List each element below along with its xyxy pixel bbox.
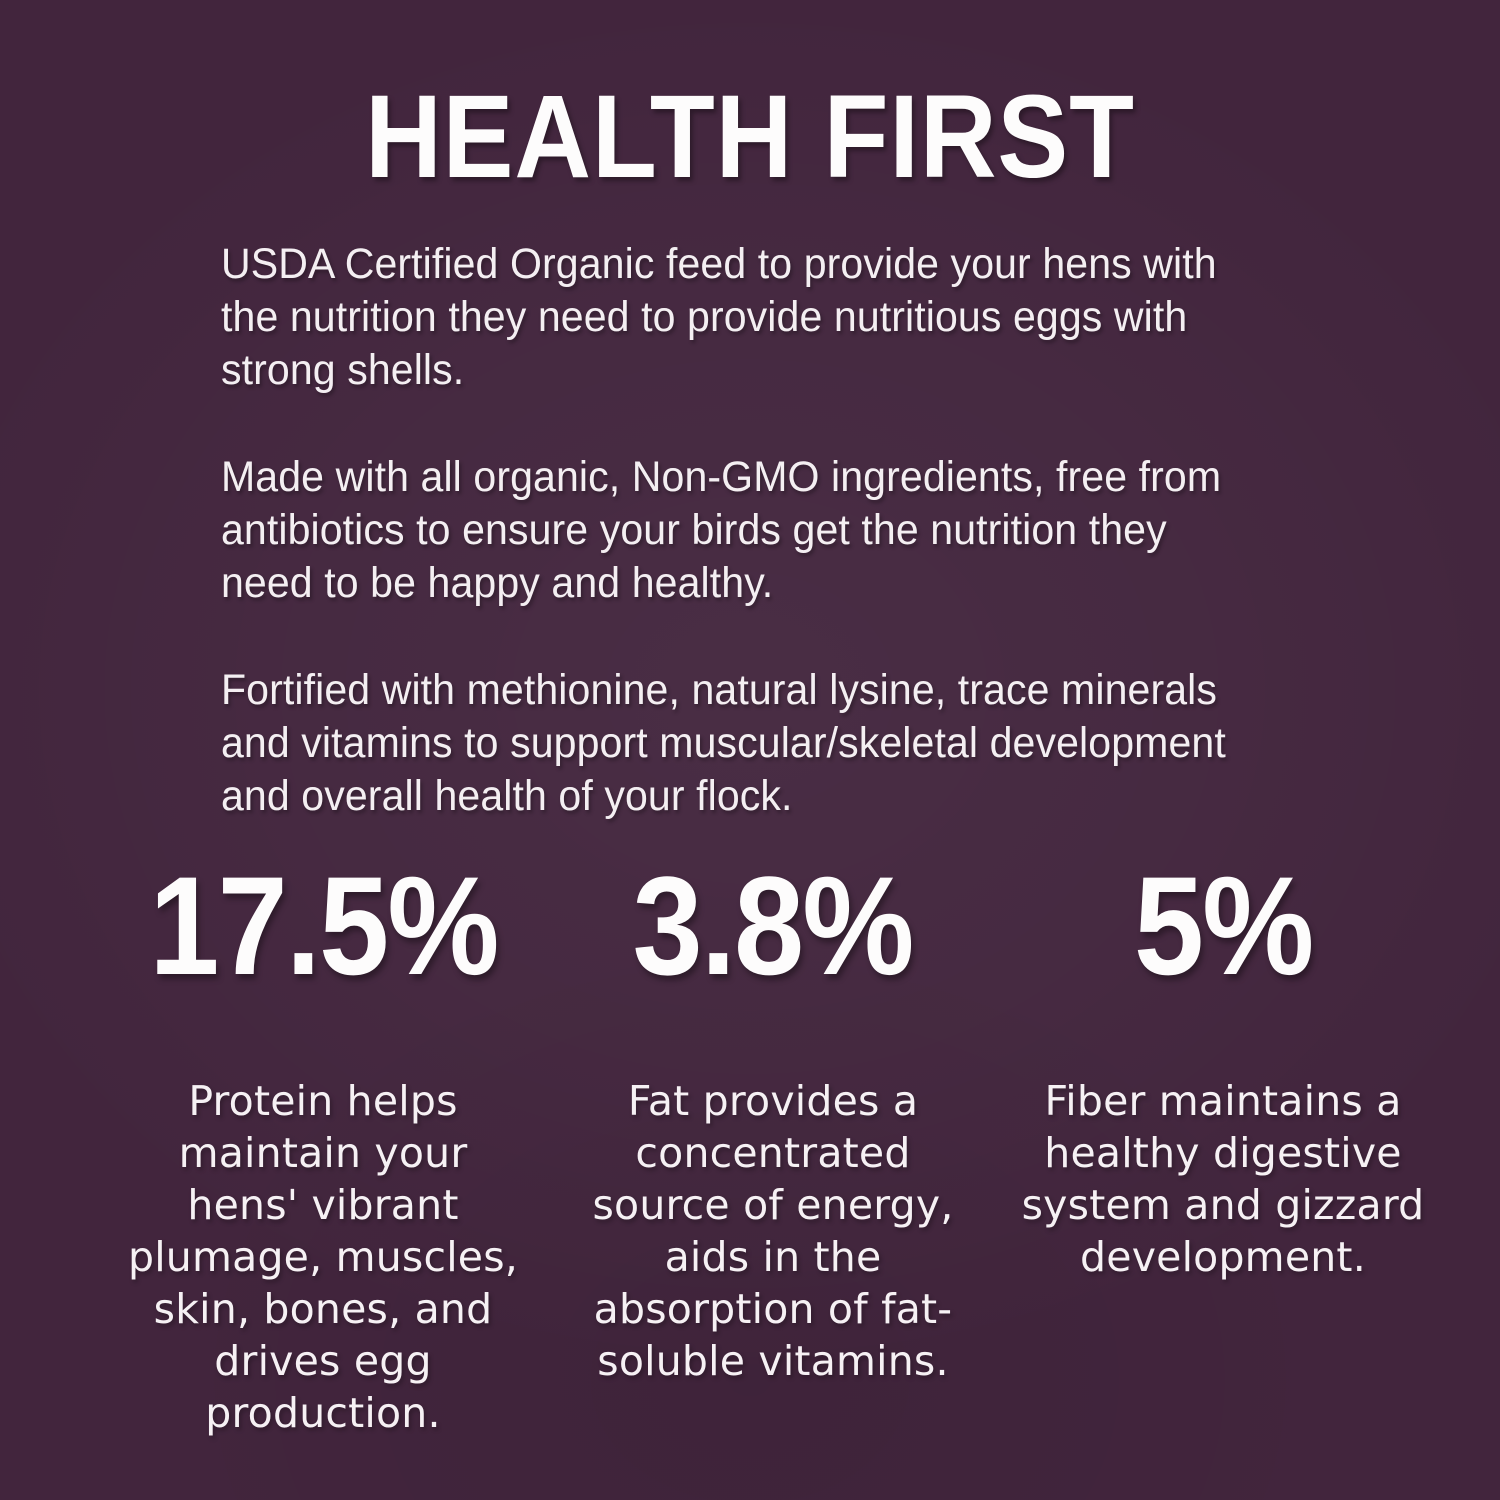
body-paragraph: USDA Certified Organic feed to provide y… [221, 238, 1248, 397]
stat-description-fat: Fat provides a concentrated source of en… [588, 1075, 958, 1387]
nutrition-stats-row: 17.5% Protein helps maintain your hens' … [0, 855, 1500, 1439]
page-title: HEALTH FIRST [75, 78, 1425, 196]
body-paragraph: Fortified with methionine, natural lysin… [221, 664, 1248, 823]
stat-value-fiber: 5% [1134, 855, 1313, 997]
body-paragraph: Made with all organic, Non-GMO ingredien… [221, 451, 1248, 610]
product-info-panel: HEALTH FIRST USDA Certified Organic feed… [0, 0, 1500, 1500]
stat-column-protein: 17.5% Protein helps maintain your hens' … [98, 855, 548, 1439]
body-copy-block: USDA Certified Organic feed to provide y… [221, 238, 1296, 823]
stat-description-fiber: Fiber maintains a healthy digestive syst… [1018, 1075, 1428, 1283]
stat-value-protein: 17.5% [149, 855, 497, 997]
stat-column-fat: 3.8% Fat provides a concentrated source … [548, 855, 998, 1439]
stat-description-protein: Protein helps maintain your hens' vibran… [126, 1075, 521, 1439]
stat-column-fiber: 5% Fiber maintains a healthy digestive s… [998, 855, 1448, 1439]
stat-value-fat: 3.8% [633, 855, 913, 997]
